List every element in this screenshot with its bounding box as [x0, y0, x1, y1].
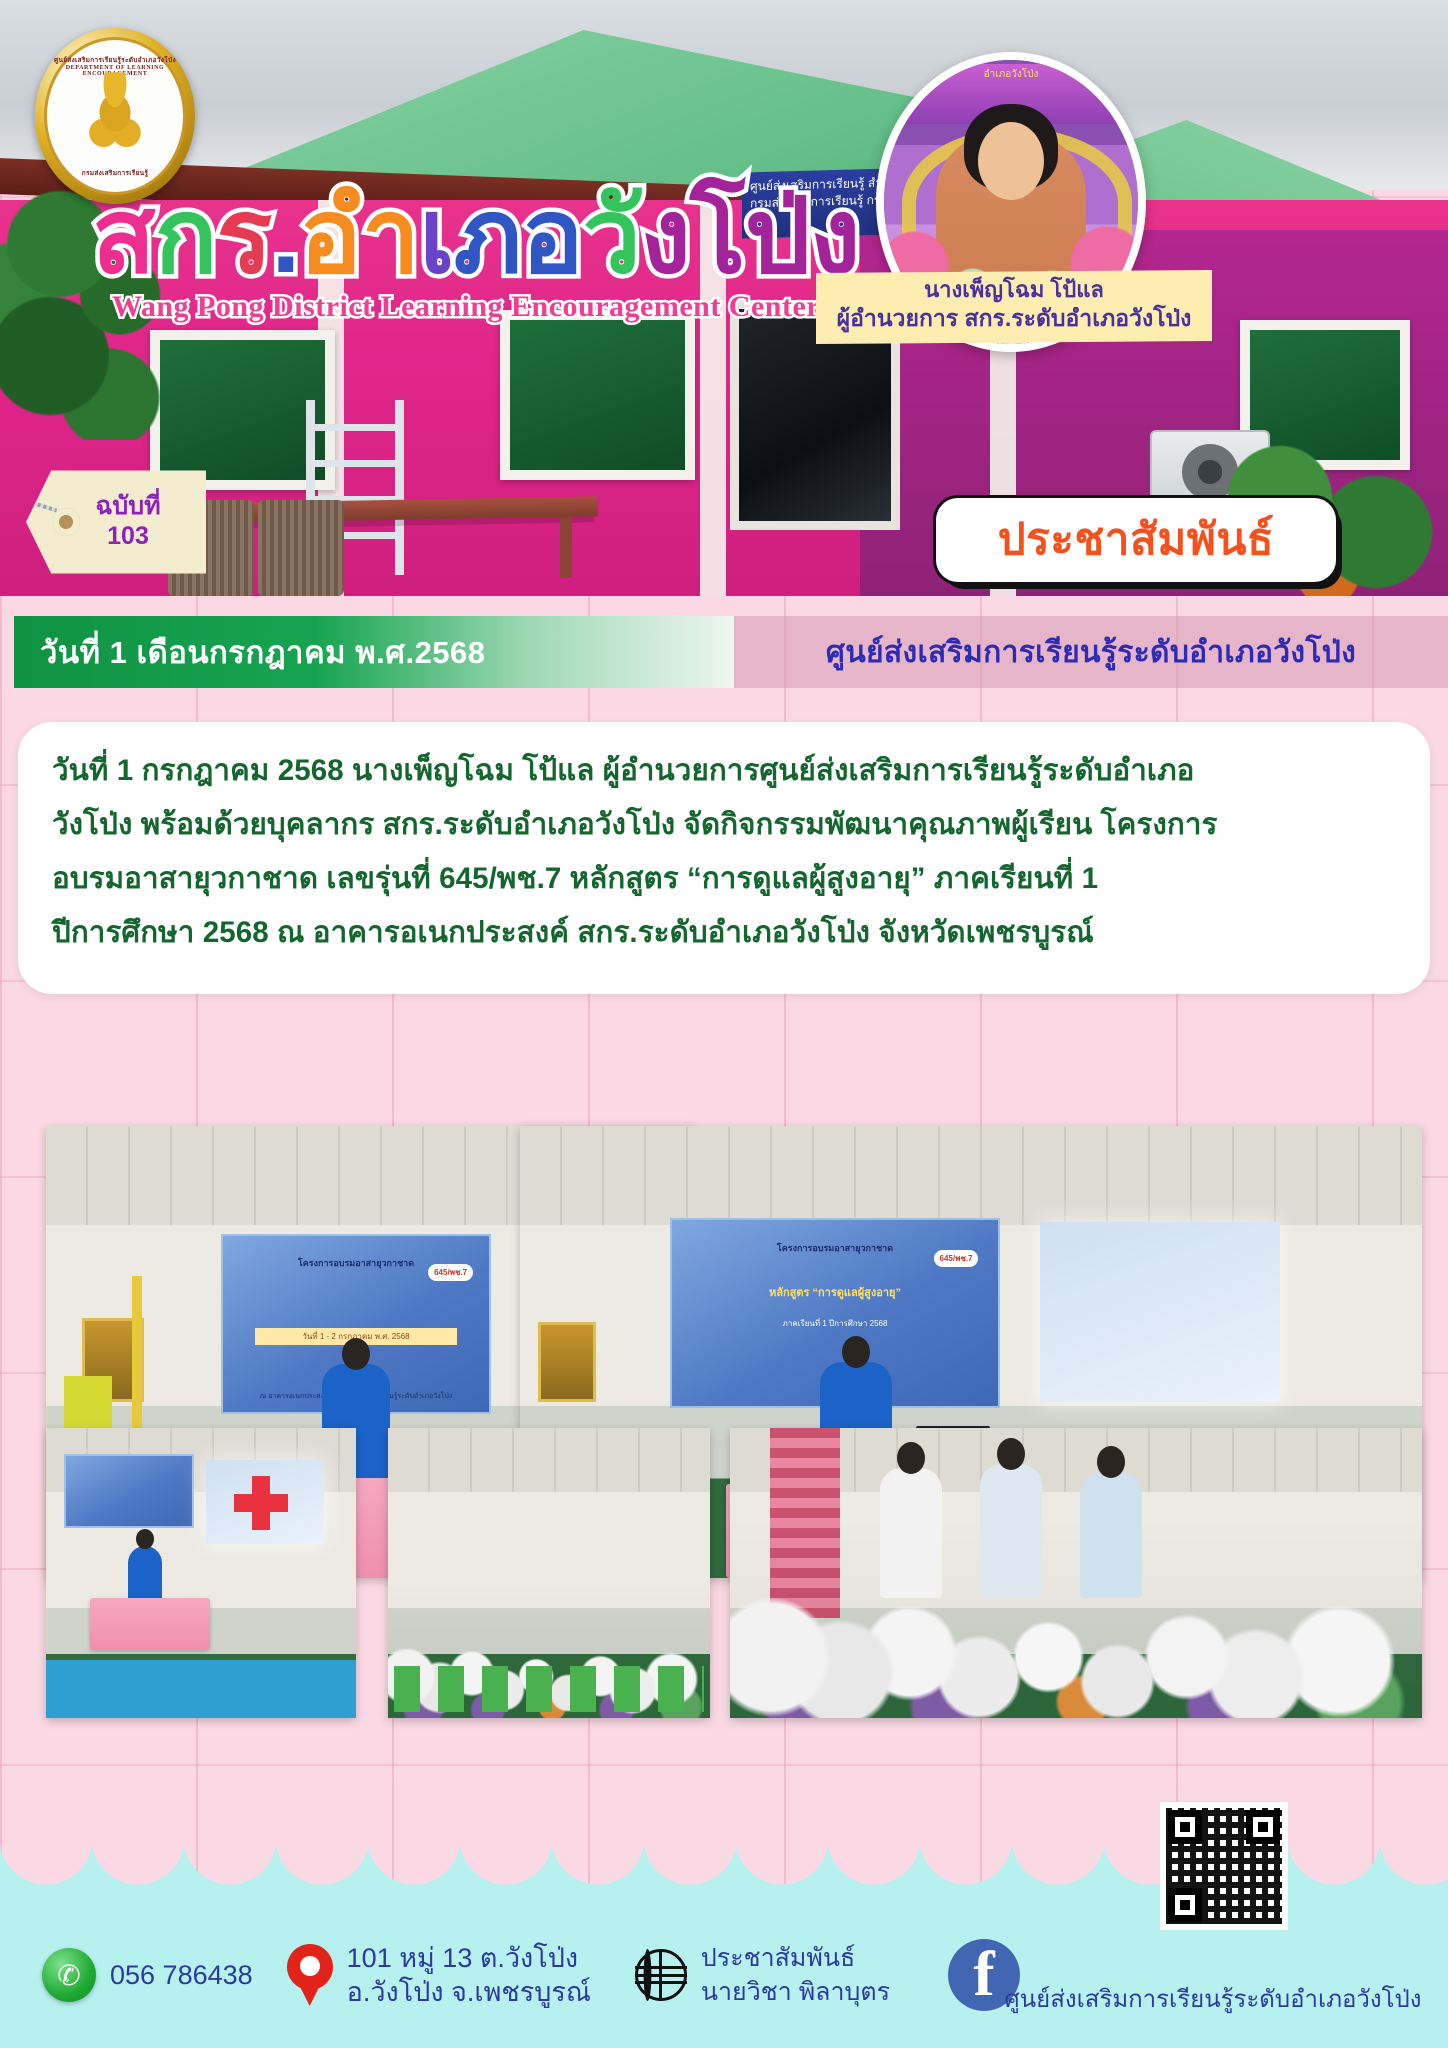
event-banner-title: โครงการอบรมอาสายุวกาชาด: [698, 1242, 972, 1254]
event-banner-batch: 645/พช.7: [428, 1264, 473, 1281]
student: [1080, 1472, 1142, 1598]
stage-front: [46, 1660, 356, 1718]
green-chairs: [394, 1666, 703, 1712]
qr-code[interactable]: [1160, 1802, 1288, 1930]
activity-photo-grid: โครงการอบรมอาสายุวกาชาด 645/พช.7 วันที่ …: [0, 1016, 1448, 1416]
date-bar: วันที่ 1 เดือนกรกฎาคม พ.ศ.2568: [14, 616, 734, 688]
body-line-1: วันที่ 1 กรกฎาคม 2568 นางเพ็ญโฉม โป้แล ผ…: [52, 744, 1400, 798]
director-face: [978, 122, 1044, 200]
footer-pr-label: ประชาสัมพันธ์: [701, 1941, 890, 1975]
date-bar-text: วันที่ 1 เดือนกรกฎาคม พ.ศ.2568: [14, 627, 486, 677]
director-name: นางเพ็ญโฉม โป้แล: [824, 276, 1204, 304]
projection-screen: [206, 1460, 324, 1544]
student: [880, 1468, 942, 1598]
event-banner: [64, 1454, 194, 1528]
footer-pr-block: ประชาสัมพันธ์ นายวิชา พิลาบุตร: [635, 1941, 890, 2009]
projection-screen: [1040, 1222, 1280, 1402]
pink-table: [90, 1598, 210, 1650]
footer-pr-person: นายวิชา พิลาบุตร: [701, 1975, 890, 2009]
person-presenting: [128, 1546, 162, 1604]
seal-bottom-text: กรมส่งเสริมการเรียนรู้: [47, 168, 183, 178]
issue-label: ฉบับที่: [95, 493, 160, 521]
student: [980, 1464, 1042, 1598]
issue-number: 103: [107, 521, 149, 551]
footer-address-line-2: อ.วังโป่ง จ.เพชรบูรณ์: [347, 1975, 591, 2009]
footer-address-block: 101 หมู่ 13 ต.วังโป่ง อ.วังโป่ง จ.เพชรบู…: [287, 1941, 591, 2009]
director-role: ผู้อำนวยการ สกร.ระดับอำเภอวังโป่ง: [824, 304, 1204, 333]
footer-phone-block: ✆ 056 786438: [42, 1948, 253, 2002]
event-banner-batch: 645/พช.7: [934, 1250, 979, 1267]
director-name-tag: นางเพ็ญโฉม โป้แล ผู้อำนวยการ สกร.ระดับอำ…: [816, 270, 1212, 344]
seal-top-text: ศูนย์ส่งเสริมการเรียนรู้ระดับอำเภอวังโป่…: [47, 55, 183, 65]
event-banner-date: ภาคเรียนที่ 1 ปีการศึกษา 2568: [711, 1317, 959, 1330]
event-banner-course: หลักสูตร “การดูแลผู้สูงอายุ”: [711, 1283, 959, 1301]
tag-hole: [52, 508, 80, 536]
tree-stump: [258, 500, 344, 596]
body-line-4: ปีการศึกษา 2568 ณ อาคารอเนกประสงค์ สกร.ร…: [52, 906, 1400, 960]
public-relations-badge-label: ประชาสัมพันธ์: [998, 518, 1275, 562]
footer-facebook-caption: ศูนย์ส่งเสริมการเรียนรู้ระดับอำเภอวังโป่…: [998, 1979, 1428, 2018]
body-line-2: วังโป่ง พร้อมด้วยบุคลากร สกร.ระดับอำเภอว…: [52, 798, 1400, 852]
globe-icon: [635, 1949, 687, 2001]
photo-presentation-red-cross-slide: [46, 1428, 356, 1718]
center-name-bar: ศูนย์ส่งเสริมการเรียนรู้ระดับอำเภอวังโป่…: [734, 616, 1448, 688]
photo-participants-activity-hall: [388, 1428, 710, 1718]
royal-crest-icon: [79, 72, 151, 156]
building-sign-english: Wang Pong District Learning Encouragemen…: [112, 290, 820, 324]
location-pin-icon: [287, 1944, 333, 2006]
announcement-text-card: วันที่ 1 กรกฎาคม 2568 นางเพ็ญโฉม โป้แล ผ…: [18, 722, 1430, 994]
window: [500, 310, 695, 480]
building-sign-thai: สกร.อำเภอวังโป่ง: [92, 185, 882, 289]
public-relations-badge: ประชาสัมพันธ์: [936, 498, 1336, 582]
body-line-3: อบรมอาสายุวกาชาด เลขรุ่นที่ 645/พช.7 หลั…: [52, 852, 1400, 906]
royal-portrait: [538, 1322, 596, 1402]
center-name-text: ศูนย์ส่งเสริมการเรียนรู้ระดับอำเภอวังโป่…: [826, 629, 1356, 676]
students-crowd: [730, 1515, 1422, 1718]
photo-students-practice-session: [730, 1428, 1422, 1718]
phone-icon: ✆: [42, 1948, 96, 2002]
red-cross-icon: [234, 1476, 288, 1530]
footer-phone-number: 056 786438: [110, 1958, 253, 1992]
footer: ✆ 056 786438 101 หมู่ 13 ต.วังโป่ง อ.วัง…: [0, 1838, 1448, 2048]
issue-number-tag: ฉบับที่ 103: [26, 466, 206, 578]
department-seal-icon: ศูนย์ส่งเสริมการเรียนรู้ระดับอำเภอวังโป่…: [35, 28, 195, 204]
footer-address-line-1: 101 หมู่ 13 ต.วังโป่ง: [347, 1941, 591, 1975]
